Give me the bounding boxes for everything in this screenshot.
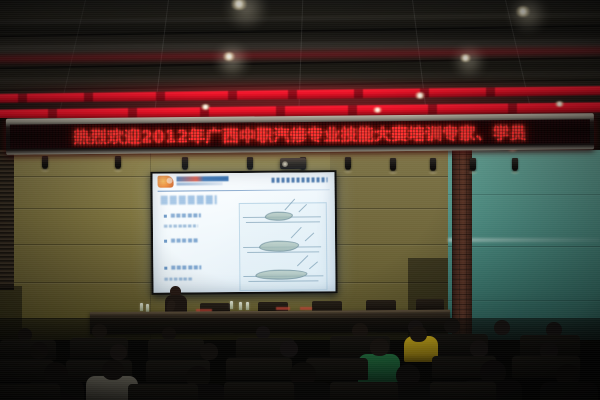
audience-head — [494, 320, 510, 335]
slide-title — [161, 195, 217, 204]
company-logo-icon — [158, 176, 174, 188]
downlight-icon — [414, 92, 426, 99]
audience-head — [200, 343, 218, 360]
downlight-icon — [554, 101, 565, 107]
downlight-icon — [459, 54, 472, 62]
downlight-icon — [222, 52, 236, 61]
audience-head — [92, 324, 107, 338]
audience-head — [370, 338, 389, 356]
audience-head — [444, 318, 460, 333]
audience-head — [102, 360, 124, 380]
slide-header-right-text — [272, 177, 328, 182]
projection-screen — [150, 170, 337, 295]
wall-vent-grille — [0, 150, 14, 290]
audience-head — [30, 342, 48, 359]
presenter — [165, 286, 187, 314]
audience-head — [410, 326, 427, 342]
water-bottle — [146, 304, 149, 312]
audience-head — [110, 344, 127, 360]
water-bottle — [246, 302, 249, 310]
audience-head — [470, 340, 488, 357]
ceiling — [0, 0, 600, 118]
led-welcome-banner: 热烈欢迎2012年广西中职汽修专业技能大赛培训专家、学员 — [6, 113, 594, 155]
lecture-hall-photo: 热烈欢迎2012年广西中职汽修专业技能大赛培训专家、学员 — [0, 0, 600, 400]
downlight-icon — [372, 107, 383, 113]
audience-head — [280, 340, 298, 357]
slide-diagram — [239, 202, 328, 291]
water-bottle — [230, 301, 233, 309]
downlight-icon — [515, 6, 531, 17]
downlight-icon — [200, 104, 211, 110]
presentation-slide — [152, 172, 335, 293]
water-bottle — [239, 302, 242, 310]
wall-pillar — [452, 150, 472, 340]
water-bottle — [140, 303, 143, 311]
audience-area — [0, 318, 600, 400]
ceiling-projector — [280, 158, 306, 169]
